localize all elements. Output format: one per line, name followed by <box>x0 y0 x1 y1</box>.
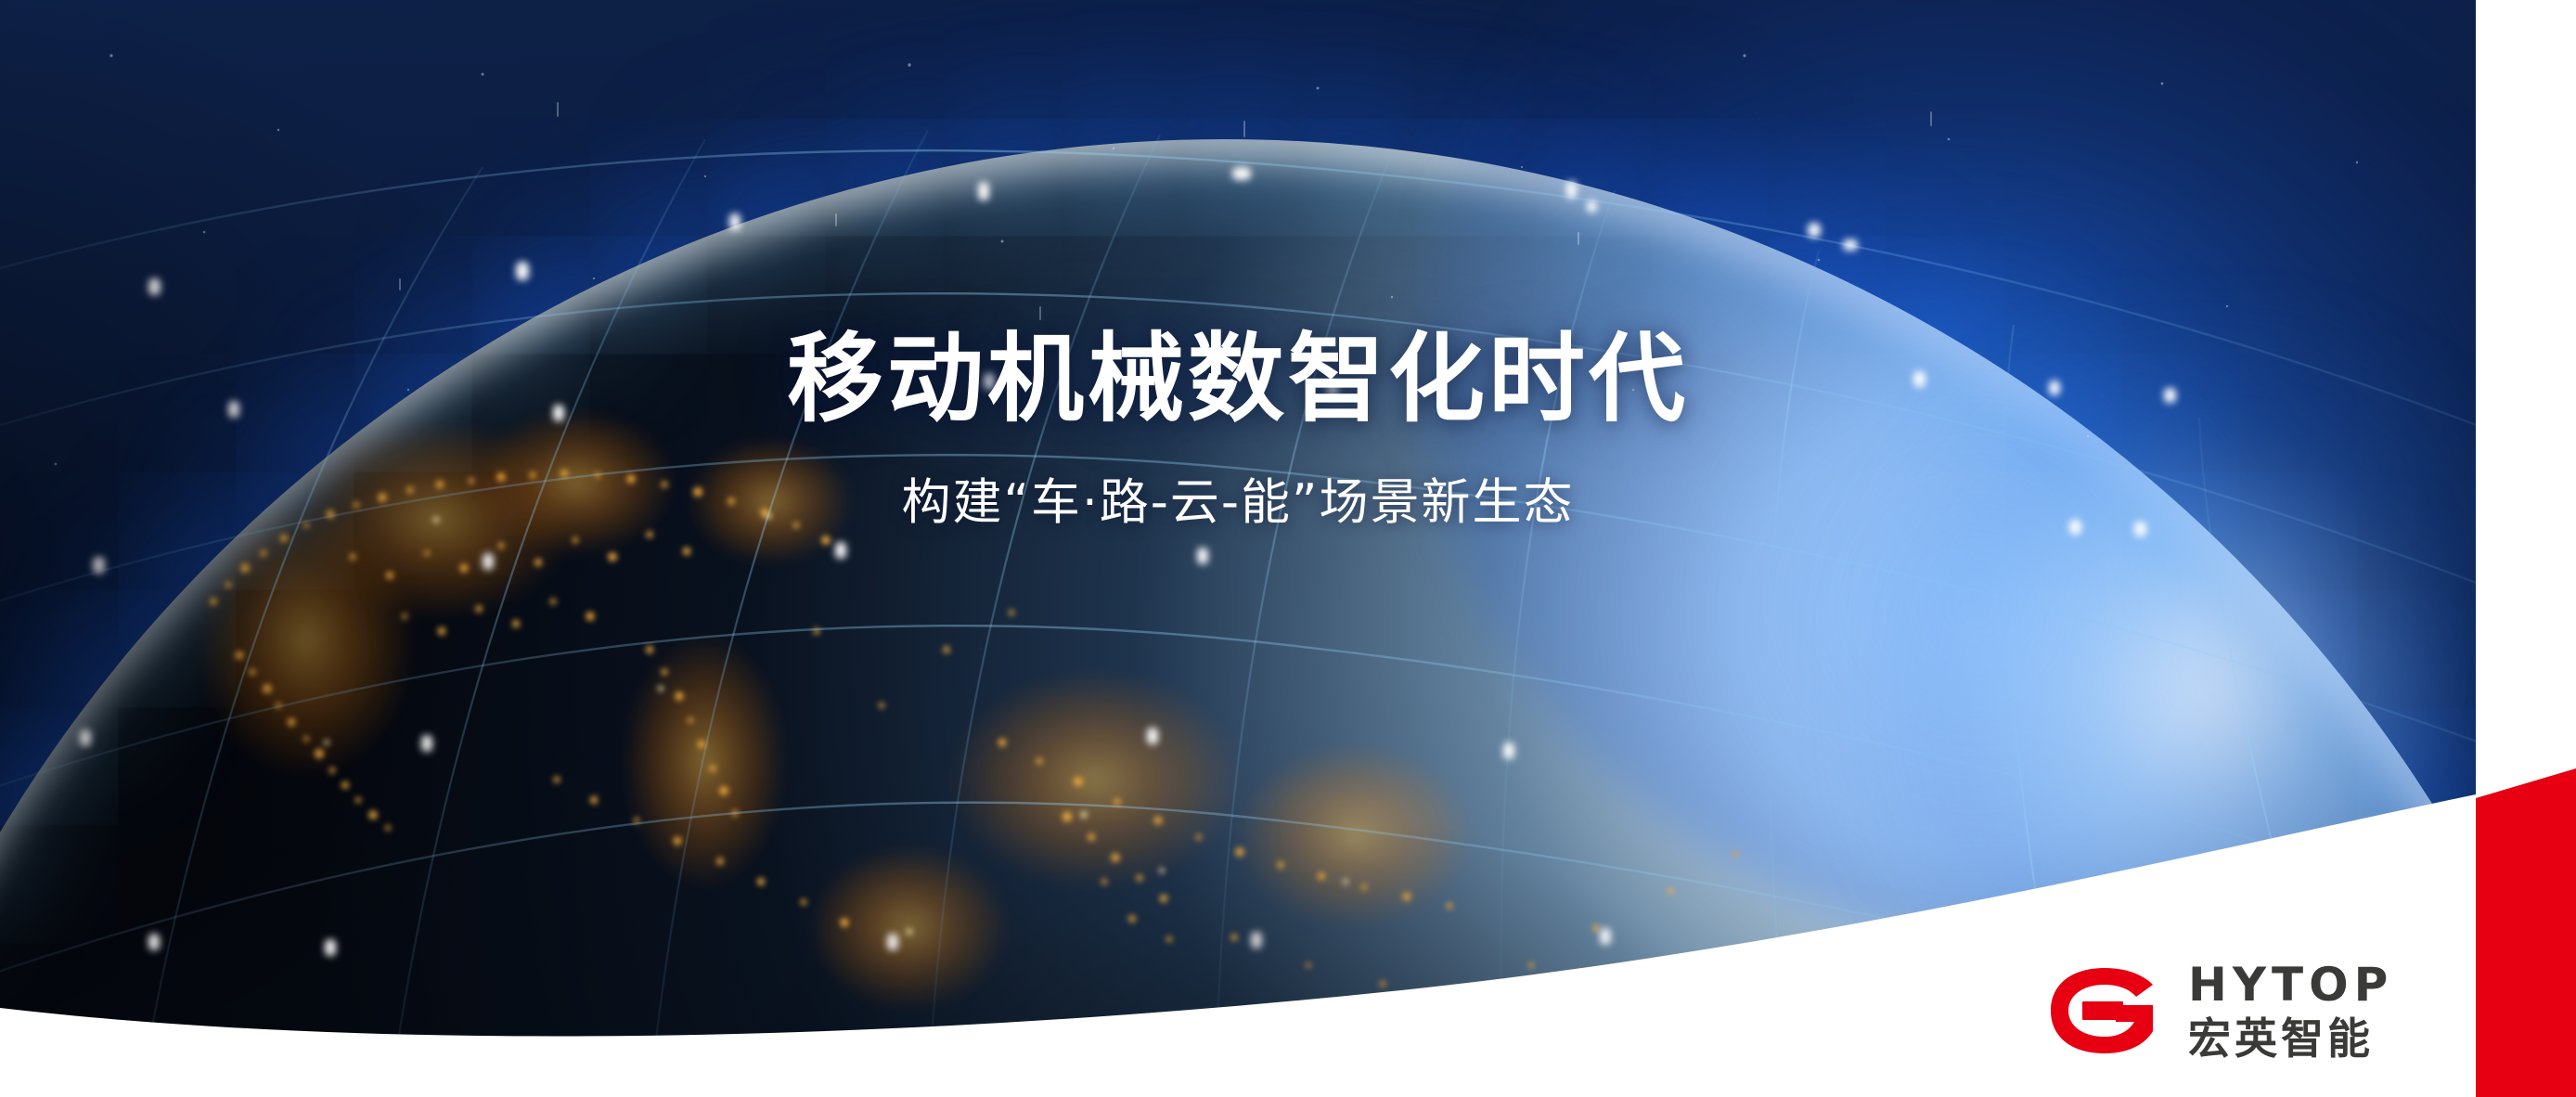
logo-english-name: HYTOP <box>2188 961 2393 1008</box>
space-background <box>0 0 2476 1097</box>
hytop-g-mark-icon <box>2049 964 2160 1057</box>
planet-container <box>0 0 2476 1097</box>
headline-block: 移动机械数智化时代 构建“车·路-云-能”场景新生态 <box>0 327 2476 533</box>
title-slide: 移动机械数智化时代 构建“车·路-云-能”场景新生态 HYTOP 宏英智能 <box>0 0 2576 1097</box>
right-white-gutter <box>2476 0 2576 1097</box>
page-subtitle: 构建“车·路-云-能”场景新生态 <box>0 473 2476 533</box>
page-title: 移动机械数智化时代 <box>0 327 2476 431</box>
logo-wordmark: HYTOP 宏英智能 <box>2188 961 2393 1060</box>
logo-chinese-name: 宏英智能 <box>2188 1017 2393 1060</box>
brand-logo: HYTOP 宏英智能 <box>2049 961 2393 1060</box>
earth-sphere <box>0 139 2476 1097</box>
